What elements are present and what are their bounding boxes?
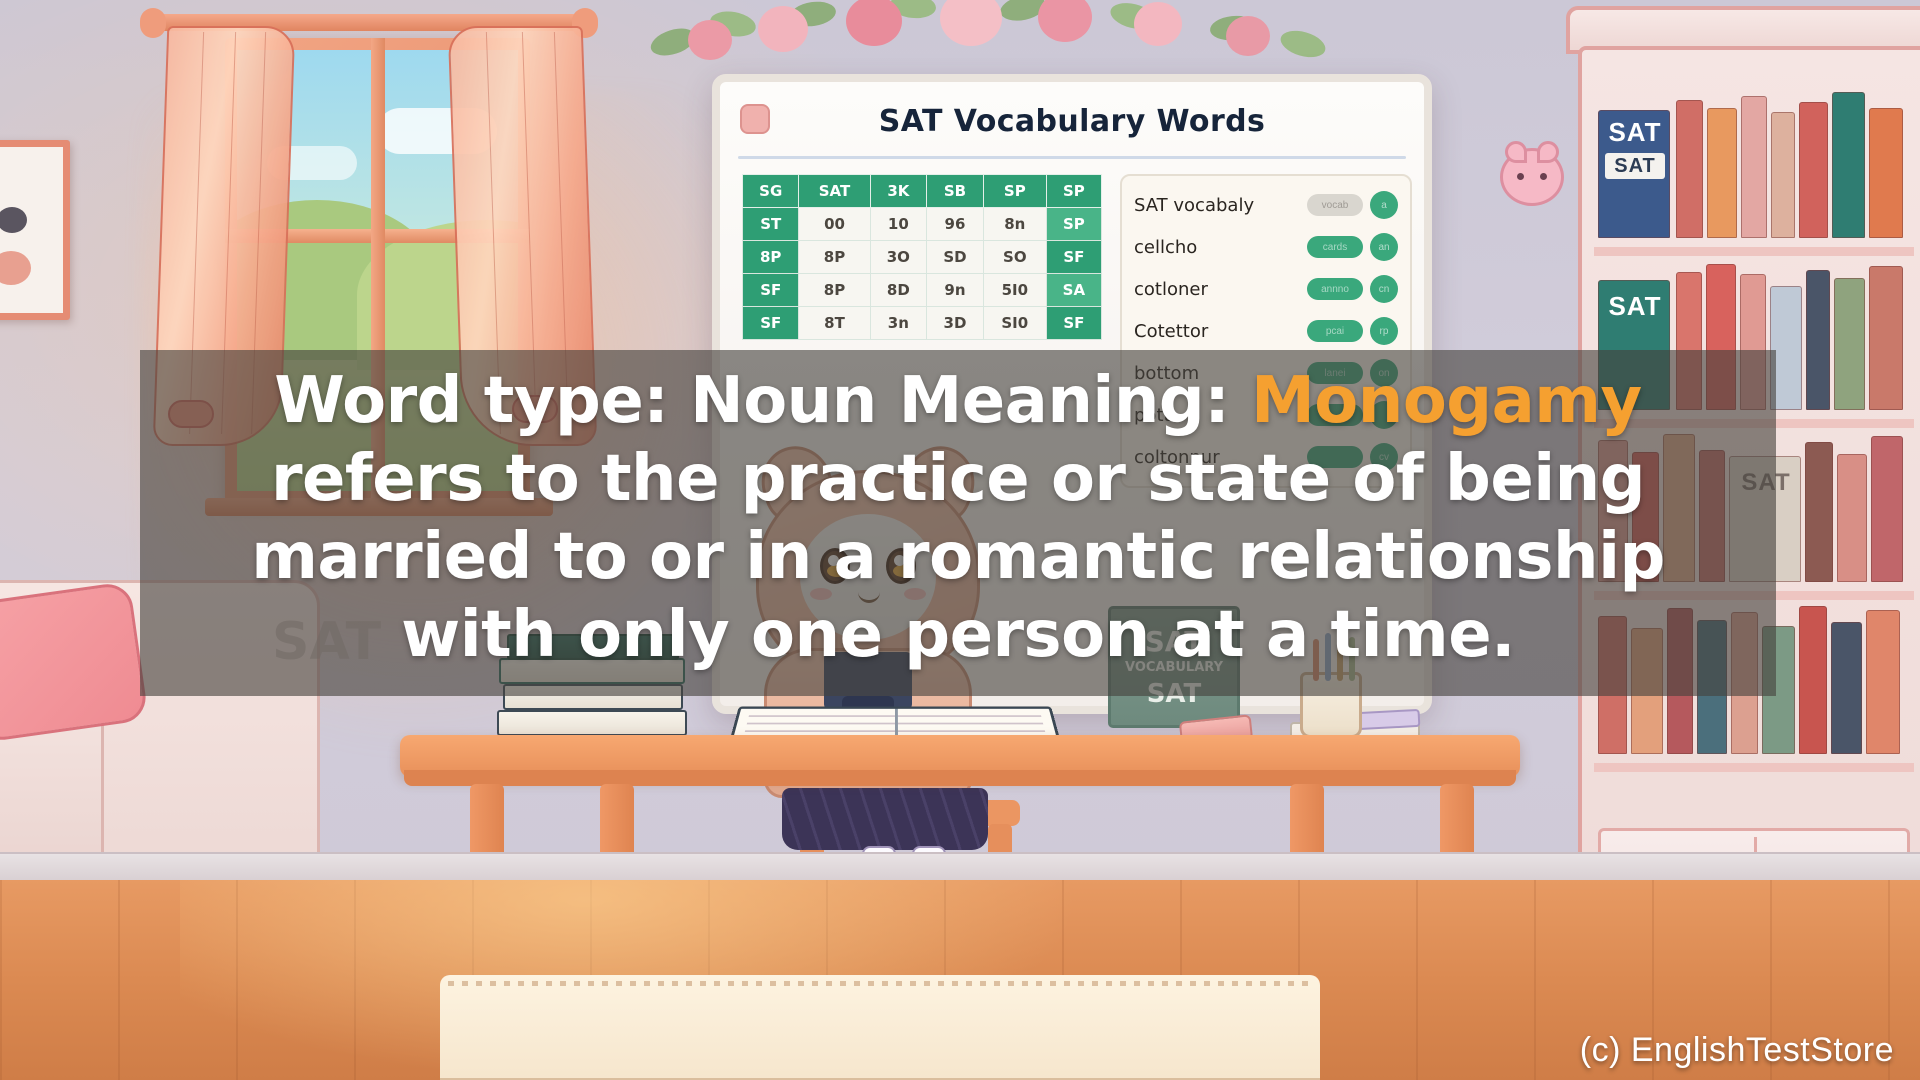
table-row-header: 8P bbox=[743, 241, 799, 274]
table-cell: SA bbox=[1046, 274, 1101, 307]
caption-line-1: Word type: Noun Meaning: Monogamy bbox=[164, 362, 1752, 440]
curtain-rod-cap-left bbox=[140, 8, 166, 38]
list-item: cotloner annno cn bbox=[1132, 268, 1400, 310]
vocab-dot-badge: cn bbox=[1370, 275, 1398, 303]
status-badge: pcai bbox=[1307, 320, 1363, 342]
whiteboard-title: SAT Vocabulary Words bbox=[720, 104, 1424, 139]
table-row-header: SF bbox=[743, 274, 799, 307]
table-cell: 8P bbox=[799, 241, 870, 274]
vocab-table: SG SAT 3K SB SP SP ST 00 10 96 8n SP bbox=[742, 174, 1102, 340]
table-header-row: SG SAT 3K SB SP SP bbox=[743, 175, 1102, 208]
table-col-header: SAT bbox=[799, 175, 870, 208]
vocab-word: cellcho bbox=[1134, 237, 1300, 258]
table-row: ST 00 10 96 8n SP bbox=[743, 208, 1102, 241]
table-cell: SD bbox=[927, 241, 984, 274]
table-cell: 3n bbox=[870, 307, 927, 340]
caption-line-3: married to or in a romantic relationship bbox=[164, 518, 1752, 596]
status-badge: annno bbox=[1307, 278, 1363, 300]
table-row: SF 8P 8D 9n 5I0 SA bbox=[743, 274, 1102, 307]
table-cell: SO bbox=[983, 241, 1046, 274]
table-cell: SP bbox=[1046, 208, 1101, 241]
status-badge: cards bbox=[1307, 236, 1363, 258]
watermark: (c) EnglishTestStore bbox=[1580, 1031, 1894, 1070]
table-row: SF 8T 3n 3D SI0 SF bbox=[743, 307, 1102, 340]
list-item: cellcho cards an bbox=[1132, 226, 1400, 268]
table-col-header: 3K bbox=[870, 175, 927, 208]
table-col-header: SB bbox=[927, 175, 984, 208]
table-cell: 8n bbox=[983, 208, 1046, 241]
book-label: SAT bbox=[1599, 117, 1671, 148]
table-cell: 00 bbox=[799, 208, 870, 241]
table-cell: 8D bbox=[870, 274, 927, 307]
bookshelf-row: SAT SAT bbox=[1594, 84, 1914, 256]
table-cell: 96 bbox=[927, 208, 984, 241]
list-item: SAT vocabaly vocab a bbox=[1132, 184, 1400, 226]
sofa-pillow bbox=[0, 581, 149, 743]
table-row-header: SF bbox=[743, 307, 799, 340]
table-cell: 10 bbox=[870, 208, 927, 241]
vocab-dot-badge: a bbox=[1370, 191, 1398, 219]
pig-plush bbox=[1500, 148, 1564, 206]
sat-book: SAT SAT bbox=[1598, 110, 1670, 238]
caption-overlay: Word type: Noun Meaning: Monogamy refers… bbox=[140, 350, 1776, 696]
book-label: SAT bbox=[1599, 291, 1671, 322]
table-cell: SI0 bbox=[983, 307, 1046, 340]
baseboard bbox=[0, 852, 1920, 882]
headword-highlight: Monogamy bbox=[1251, 364, 1642, 438]
vocab-word: Cotettor bbox=[1134, 321, 1300, 342]
rug bbox=[440, 975, 1320, 1080]
table-cell: 8P bbox=[799, 274, 870, 307]
screenshot-canvas: SAT Vocabulary Words SG SAT 3K SB SP SP … bbox=[0, 0, 1920, 1080]
table-cell: 3D bbox=[927, 307, 984, 340]
table-row-header: ST bbox=[743, 208, 799, 241]
caption-line-4: with only one person at a time. bbox=[164, 596, 1752, 674]
table-col-header: SG bbox=[743, 175, 799, 208]
caption-line-2: refers to the practice or state of being bbox=[164, 440, 1752, 518]
whiteboard-divider bbox=[738, 156, 1406, 159]
flower-garland bbox=[640, 0, 1340, 82]
table-col-header: SP bbox=[983, 175, 1046, 208]
table-cell: SF bbox=[1046, 307, 1101, 340]
status-badge: vocab bbox=[1307, 194, 1363, 216]
table-cell: 9n bbox=[927, 274, 984, 307]
table-cell: 3O bbox=[870, 241, 927, 274]
table-col-header: SP bbox=[1046, 175, 1101, 208]
vocab-word: SAT vocabaly bbox=[1134, 195, 1300, 216]
caption-line-1-plain: Word type: Noun Meaning: bbox=[274, 364, 1251, 438]
vocab-word: cotloner bbox=[1134, 279, 1300, 300]
table-cell: 8T bbox=[799, 307, 870, 340]
list-item: Cotettor pcai rp bbox=[1132, 310, 1400, 352]
wall-picture-frame bbox=[0, 140, 70, 320]
vocab-dot-badge: an bbox=[1370, 233, 1398, 261]
character-skirt bbox=[782, 788, 988, 850]
desk-edge bbox=[404, 770, 1516, 786]
table-cell: SF bbox=[1046, 241, 1101, 274]
book-label: SAT bbox=[1605, 153, 1665, 179]
vocab-dot-badge: rp bbox=[1370, 317, 1398, 345]
table-cell: 5I0 bbox=[983, 274, 1046, 307]
table-row: 8P 8P 3O SD SO SF bbox=[743, 241, 1102, 274]
